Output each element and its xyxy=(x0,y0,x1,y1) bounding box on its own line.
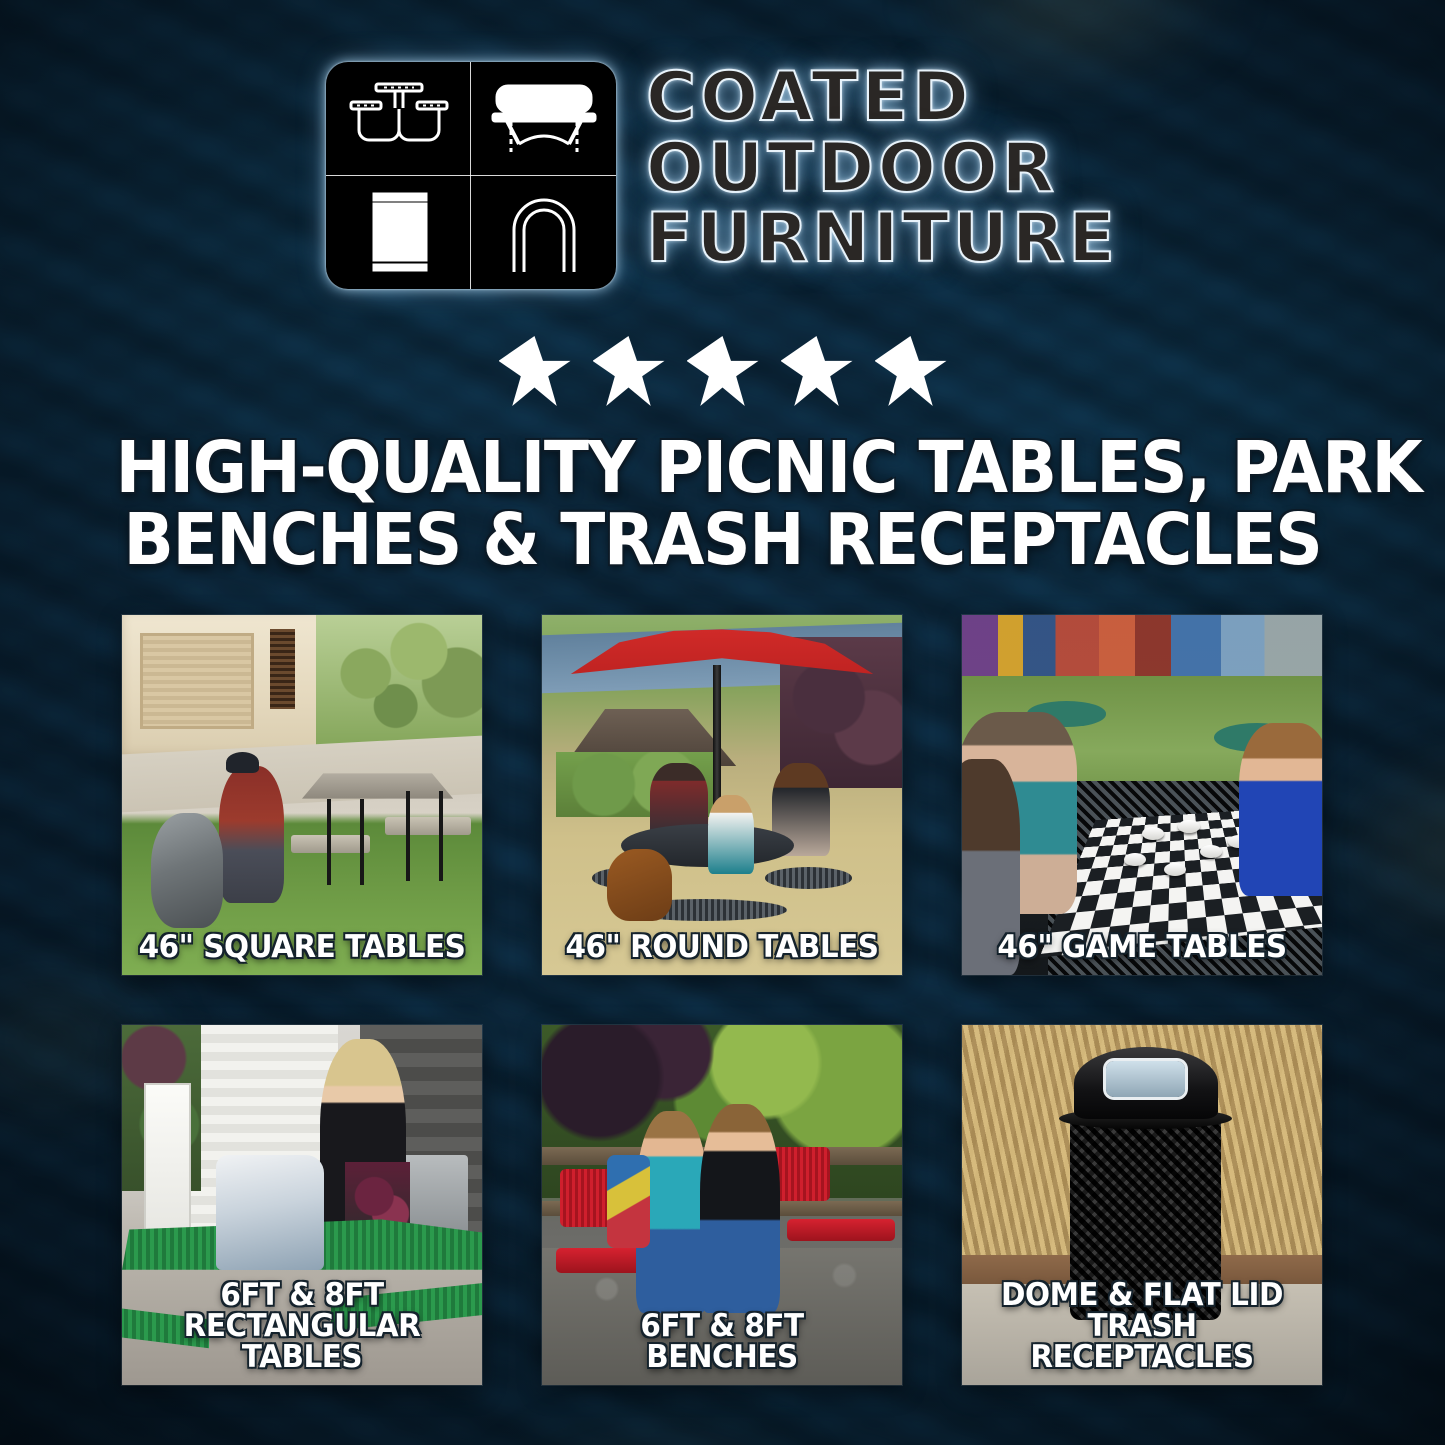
star-icon xyxy=(499,336,571,406)
star-rating xyxy=(0,336,1445,406)
product-tile-square-tables[interactable]: 46" SQUARE TABLES xyxy=(122,615,482,975)
headline: HIGH-QUALITY PICNIC TABLES, PARK BENCHES… xyxy=(70,432,1375,577)
brand-line-3: FURNITURE xyxy=(646,207,1119,272)
logo-mark xyxy=(326,62,616,289)
brand-header: COATED OUTDOOR FURNITURE xyxy=(0,62,1445,289)
star-icon xyxy=(593,336,665,406)
product-tile-game-tables[interactable]: 46" GAME TABLES xyxy=(962,615,1322,975)
bike-rack-icon xyxy=(471,176,616,290)
product-caption: 46" ROUND TABLES xyxy=(557,932,888,963)
product-caption: 46" SQUARE TABLES xyxy=(137,932,468,963)
poster: COATED OUTDOOR FURNITURE HIGH-QUALITY PI… xyxy=(0,0,1445,1445)
product-tile-round-tables[interactable]: 46" ROUND TABLES xyxy=(542,615,902,975)
product-caption-line-2: RECTANGULAR TABLES xyxy=(137,1311,468,1373)
bench-icon xyxy=(471,62,616,176)
product-caption-line-2: TRASH RECEPTACLES xyxy=(977,1311,1308,1373)
product-photo-round-tables xyxy=(542,615,902,975)
product-caption-line-1: 46" SQUARE TABLES xyxy=(137,932,468,963)
brand-line-2: OUTDOOR xyxy=(646,137,1119,202)
headline-line-1: HIGH-QUALITY PICNIC TABLES, PARK xyxy=(116,432,1330,504)
star-icon xyxy=(875,336,947,406)
product-caption: DOME & FLAT LID TRASH RECEPTACLES xyxy=(977,1280,1308,1373)
product-caption: 6FT & 8FT BENCHES xyxy=(557,1311,888,1373)
product-caption-line-1: 46" GAME TABLES xyxy=(977,932,1308,963)
trash-receptacle-icon xyxy=(326,176,471,290)
headline-line-2: BENCHES & TRASH RECEPTACLES xyxy=(116,504,1330,576)
brand-line-1: COATED xyxy=(646,66,1119,131)
product-tile-trash-receptacles[interactable]: DOME & FLAT LID TRASH RECEPTACLES xyxy=(962,1025,1322,1385)
product-caption-line-1: 46" ROUND TABLES xyxy=(557,932,888,963)
product-caption-line-2: BENCHES xyxy=(557,1342,888,1373)
picnic-table-icon xyxy=(326,62,471,176)
product-caption-line-1: 6FT & 8FT xyxy=(557,1311,888,1342)
product-photo-square-tables xyxy=(122,615,482,975)
product-grid: 46" SQUARE TABLES 46" xyxy=(122,615,1322,1385)
star-icon xyxy=(687,336,759,406)
product-caption-line-1: DOME & FLAT LID xyxy=(977,1280,1308,1311)
product-caption: 6FT & 8FT RECTANGULAR TABLES xyxy=(137,1280,468,1373)
product-tile-rectangular-tables[interactable]: 6FT & 8FT RECTANGULAR TABLES xyxy=(122,1025,482,1385)
brand-wordmark: COATED OUTDOOR FURNITURE xyxy=(646,62,1119,278)
product-photo-game-tables xyxy=(962,615,1322,975)
star-icon xyxy=(781,336,853,406)
product-caption-line-1: 6FT & 8FT xyxy=(137,1280,468,1311)
product-caption: 46" GAME TABLES xyxy=(977,932,1308,963)
product-tile-benches[interactable]: 6FT & 8FT BENCHES xyxy=(542,1025,902,1385)
